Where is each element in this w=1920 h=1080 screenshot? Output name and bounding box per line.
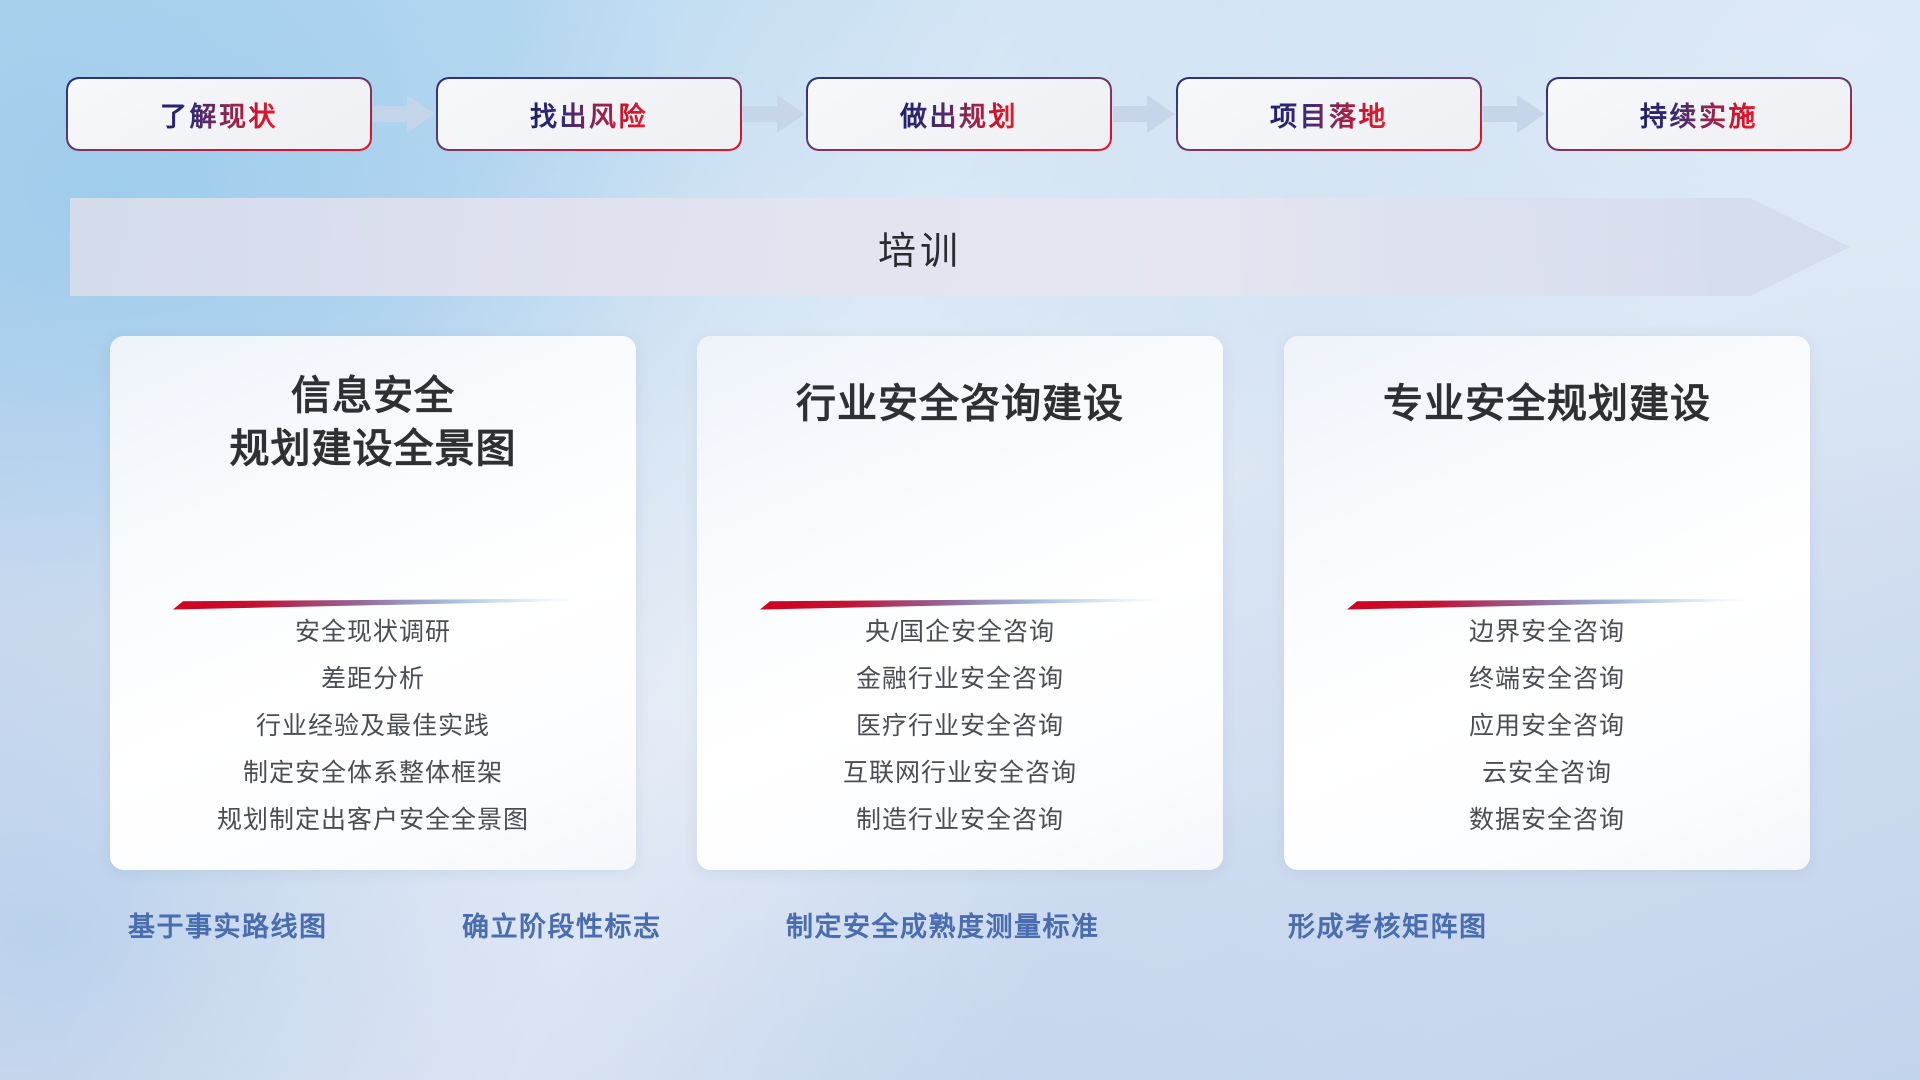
step-box-2[interactable]: 做出规划 (808, 79, 1110, 149)
card-2[interactable]: 专业安全规划建设 (1284, 336, 1810, 870)
step-box-3[interactable]: 项目落地 (1178, 79, 1480, 149)
caption-0: 基于事实路线图 (128, 905, 328, 944)
slide-root: 了解现状 找出风险 做出规划 项目落地 (0, 0, 1920, 1080)
card-divider (1347, 598, 1747, 612)
step-box-1[interactable]: 找出风险 (438, 79, 740, 149)
caption-row: 基于事实路线图 确立阶段性标志 制定安全成熟度测量标准 形成考核矩阵图 (0, 905, 1920, 965)
card-divider (173, 598, 573, 612)
card-title: 专业安全规划建设 (1357, 378, 1737, 431)
card-item-list: 边界安全咨询 终端安全咨询 应用安全咨询 云安全咨询 数据安全咨询 (1284, 612, 1810, 870)
card-0[interactable]: 信息安全 规划建设全景图 (110, 336, 636, 870)
list-item: 规划制定出客户安全全景图 (217, 800, 529, 836)
list-item: 应用安全咨询 (1469, 706, 1625, 742)
list-item: 差距分析 (321, 659, 425, 695)
card-inner: 信息安全 规划建设全景图 (110, 336, 636, 870)
card-divider (760, 598, 1160, 612)
list-item: 行业经验及最佳实践 (256, 706, 490, 742)
list-item: 安全现状调研 (295, 612, 451, 648)
list-item: 医疗行业安全咨询 (856, 706, 1064, 742)
arrow-right-icon (740, 94, 808, 134)
divider-wrap (110, 598, 636, 612)
divider-wrap (1284, 598, 1810, 612)
card-item-list: 央/国企安全咨询 金融行业安全咨询 医疗行业安全咨询 互联网行业安全咨询 制造行… (697, 612, 1223, 870)
step-box-0[interactable]: 了解现状 (68, 79, 370, 149)
step-label: 项目落地 (1270, 95, 1388, 134)
arrow-right-icon (370, 94, 438, 134)
card-group: 信息安全 规划建设全景图 (110, 336, 1810, 874)
caption-1: 确立阶段性标志 (462, 905, 662, 944)
arrow-right-icon (1480, 94, 1548, 134)
list-item: 互联网行业安全咨询 (843, 753, 1077, 789)
process-step-row: 了解现状 找出风险 做出规划 项目落地 (68, 78, 1858, 150)
banner-title: 培训 (70, 198, 1770, 296)
list-item: 终端安全咨询 (1469, 659, 1625, 695)
step-box-4[interactable]: 持续实施 (1548, 79, 1850, 149)
step-label: 持续实施 (1640, 95, 1758, 134)
caption-3: 形成考核矩阵图 (1288, 905, 1488, 944)
card-inner: 专业安全规划建设 (1284, 336, 1810, 870)
card-1[interactable]: 行业安全咨询建设 (697, 336, 1223, 870)
list-item: 边界安全咨询 (1469, 612, 1625, 648)
list-item: 央/国企安全咨询 (865, 612, 1055, 648)
card-item-list: 安全现状调研 差距分析 行业经验及最佳实践 制定安全体系整体框架 规划制定出客户… (110, 612, 636, 870)
card-title: 行业安全咨询建设 (770, 378, 1150, 431)
training-banner: 培训 (70, 198, 1850, 296)
caption-2: 制定安全成熟度测量标准 (786, 905, 1100, 944)
card-title: 信息安全 规划建设全景图 (204, 370, 543, 476)
list-item: 数据安全咨询 (1469, 800, 1625, 836)
list-item: 云安全咨询 (1482, 753, 1612, 789)
divider-wrap (697, 598, 1223, 612)
list-item: 金融行业安全咨询 (856, 659, 1064, 695)
step-label: 了解现状 (160, 95, 278, 134)
step-label: 找出风险 (530, 95, 648, 134)
list-item: 制定安全体系整体框架 (243, 753, 503, 789)
step-label: 做出规划 (900, 95, 1018, 134)
card-inner: 行业安全咨询建设 (697, 336, 1223, 870)
list-item: 制造行业安全咨询 (856, 800, 1064, 836)
arrow-right-icon (1110, 94, 1178, 134)
